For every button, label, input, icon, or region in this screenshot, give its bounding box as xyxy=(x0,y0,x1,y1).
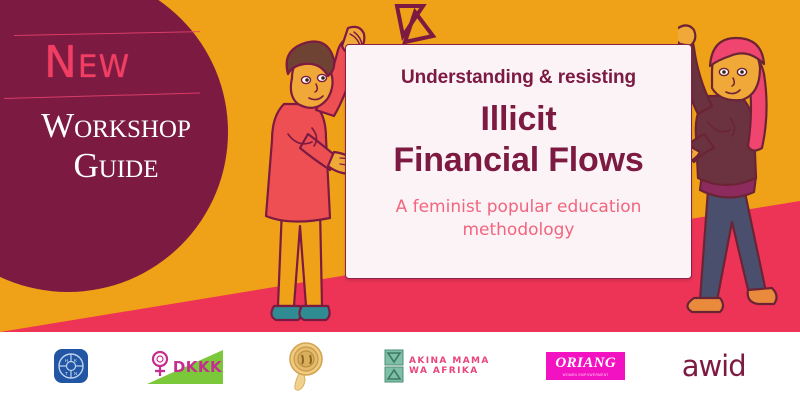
svg-text:K: K xyxy=(74,358,77,363)
dkkk-logo-icon[interactable]: DKKK xyxy=(145,346,227,386)
partner-logos: H K T N DKKK xyxy=(0,332,800,400)
svg-text:H: H xyxy=(65,358,68,363)
banner-card: Understanding & resisting Illicit Financ… xyxy=(345,44,692,279)
banner-title-line2: Financial Flows xyxy=(393,141,643,180)
poster-canvas: New Workshop Guide xyxy=(0,0,800,400)
blue-square-logo-icon[interactable]: H K T N xyxy=(54,349,88,383)
dkkk-logo-label: DKKK xyxy=(173,358,222,376)
banner-eyebrow: Understanding & resisting xyxy=(401,67,636,89)
svg-text:N: N xyxy=(74,371,77,376)
svg-text:T: T xyxy=(65,371,68,376)
badge-workshop-label: Workshop xyxy=(16,108,216,144)
banner-tagline-line2: methodology xyxy=(396,219,642,242)
oriang-logo-icon[interactable]: ORIANG WOMEN EMPOWERMENT xyxy=(546,352,625,380)
oriang-logo-label: ORIANG xyxy=(555,356,616,371)
woman-holding-banner-right-icon xyxy=(678,22,800,342)
akina-mama-line1: AKINA MAMA xyxy=(409,356,490,366)
banner-tagline: A feminist popular education methodology xyxy=(396,196,642,242)
awid-logo-label: awid xyxy=(682,349,746,383)
akina-mama-line2: WA AFRIKA xyxy=(409,366,490,376)
banner-title-line1: Illicit xyxy=(480,100,556,139)
akina-mama-wa-afrika-logo-icon[interactable]: AKINA MAMA WA AFRIKA xyxy=(384,349,490,383)
banner-tagline-line1: A feminist popular education xyxy=(396,196,642,219)
gold-medallion-logo-icon[interactable] xyxy=(283,341,327,391)
oriang-logo-sublabel: WOMEN EMPOWERMENT xyxy=(563,373,609,377)
awid-logo-icon[interactable]: awid xyxy=(682,349,746,383)
badge-new-label: New xyxy=(44,41,130,85)
triangle-decoration-icon xyxy=(393,2,441,46)
badge-guide-label: Guide xyxy=(16,148,216,184)
